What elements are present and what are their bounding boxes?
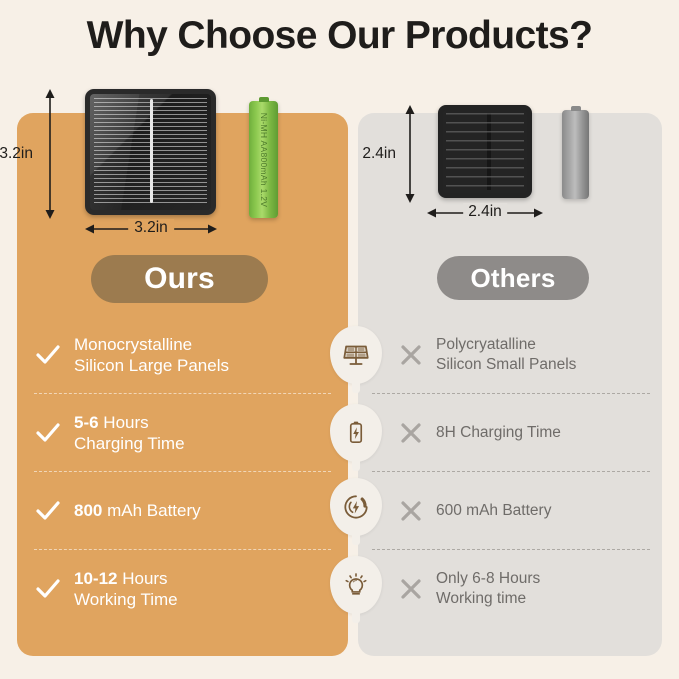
lightbulb-icon-badge — [330, 556, 382, 614]
battery-charging-icon-badge — [330, 404, 382, 462]
ours-feature-2: 5-6 Hours Charging Time — [34, 394, 334, 472]
others-height-arrow — [400, 104, 420, 204]
ours-feature-2-line2: Charging Time — [74, 434, 185, 453]
others-feature-1-line2: Silicon Small Panels — [436, 355, 576, 375]
ours-feature-4-unit: Hours — [117, 569, 167, 588]
badge-stem — [352, 609, 360, 623]
others-feature-4-line1: Only 6-8 Hours — [436, 569, 540, 589]
infographic-page: Why Choose Our Products? Ni-MH AA800mAh … — [0, 0, 679, 679]
others-badge: Others — [437, 256, 589, 300]
others-feature-4-text: Only 6-8 Hours Working time — [436, 569, 540, 608]
ours-feature-3-value: 800 — [74, 501, 102, 520]
cross-icon — [398, 342, 424, 368]
battery-charging-icon — [342, 419, 370, 447]
fast-charge-icon — [341, 492, 371, 522]
others-feature-4: Only 6-8 Hours Working time — [398, 550, 660, 628]
ours-feature-4-value: 10-12 — [74, 569, 117, 588]
others-badge-label: Others — [470, 263, 555, 294]
page-title: Why Choose Our Products? — [0, 14, 679, 58]
comparison-table: Monocrystalline Silicon Large Panels — [0, 316, 679, 628]
others-feature-1-line1: Polycryatalline — [436, 335, 576, 355]
others-width-label: 2.4in — [463, 203, 507, 221]
ours-feature-1-line2: Silicon Large Panels — [74, 356, 229, 375]
cross-icon — [398, 576, 424, 602]
check-icon — [34, 575, 62, 603]
others-feature-1-text: Polycryatalline Silicon Small Panels — [436, 335, 576, 374]
table-row: 800 mAh Battery 600 mAh Battery — [0, 472, 679, 550]
fast-charge-icon-badge — [330, 478, 382, 536]
others-feature-1: Polycryatalline Silicon Small Panels — [398, 316, 660, 394]
solar-panel-icon-badge — [330, 326, 382, 384]
cross-icon — [398, 498, 424, 524]
ours-feature-1: Monocrystalline Silicon Large Panels — [34, 316, 334, 394]
table-row: 10-12 Hours Working Time — [0, 550, 679, 628]
others-solar-panel-image — [438, 105, 532, 198]
ours-feature-2-text: 5-6 Hours Charging Time — [74, 412, 185, 454]
ours-feature-3-unit: mAh Battery — [102, 501, 200, 520]
lightbulb-icon — [341, 570, 371, 600]
ours-width-label: 3.2in — [128, 219, 174, 237]
ours-height-arrow — [40, 88, 60, 220]
ours-height-label: 3.2in — [0, 145, 33, 163]
cross-icon — [398, 420, 424, 446]
solar-panel-icon — [341, 340, 371, 370]
ours-badge-label: Ours — [144, 262, 215, 296]
ours-feature-1-text: Monocrystalline Silicon Large Panels — [74, 334, 229, 376]
check-icon — [34, 497, 62, 525]
badge-stem — [352, 531, 360, 545]
check-icon — [34, 419, 62, 447]
others-feature-3-text: 600 mAh Battery — [436, 501, 551, 521]
others-feature-4-line2: Working time — [436, 589, 540, 609]
others-feature-3-line1: 600 mAh Battery — [436, 501, 551, 521]
table-row: Monocrystalline Silicon Large Panels — [0, 316, 679, 394]
ours-solar-panel-image — [85, 89, 216, 215]
ours-feature-4-line2: Working Time — [74, 590, 178, 609]
others-feature-2-text: 8H Charging Time — [436, 423, 561, 443]
others-feature-3: 600 mAh Battery — [398, 472, 660, 550]
battery-terminal — [259, 97, 269, 102]
others-feature-2: 8H Charging Time — [398, 394, 660, 472]
solar-cells — [446, 113, 524, 190]
badge-stem — [352, 457, 360, 471]
ours-feature-3: 800 mAh Battery — [34, 472, 334, 550]
others-battery-image — [562, 110, 589, 199]
ours-feature-4: 10-12 Hours Working Time — [34, 550, 334, 628]
ours-battery-label: Ni-MH AA800mAh 1.2V — [259, 112, 269, 207]
ours-feature-2-value: 5-6 — [74, 413, 99, 432]
ours-badge: Ours — [91, 255, 268, 303]
ours-battery-image: Ni-MH AA800mAh 1.2V — [249, 101, 278, 218]
check-icon — [34, 341, 62, 369]
badge-stem — [352, 379, 360, 393]
solar-busbar — [150, 99, 153, 203]
ours-feature-3-text: 800 mAh Battery — [74, 500, 201, 521]
others-feature-2-line1: 8H Charging Time — [436, 423, 561, 443]
ours-feature-4-text: 10-12 Hours Working Time — [74, 568, 178, 610]
ours-feature-1-line1: Monocrystalline — [74, 335, 192, 354]
ours-feature-2-unit: Hours — [99, 413, 149, 432]
table-row: 5-6 Hours Charging Time 8H Charg — [0, 394, 679, 472]
battery-terminal — [571, 106, 581, 111]
others-height-label: 2.4in — [362, 145, 396, 163]
